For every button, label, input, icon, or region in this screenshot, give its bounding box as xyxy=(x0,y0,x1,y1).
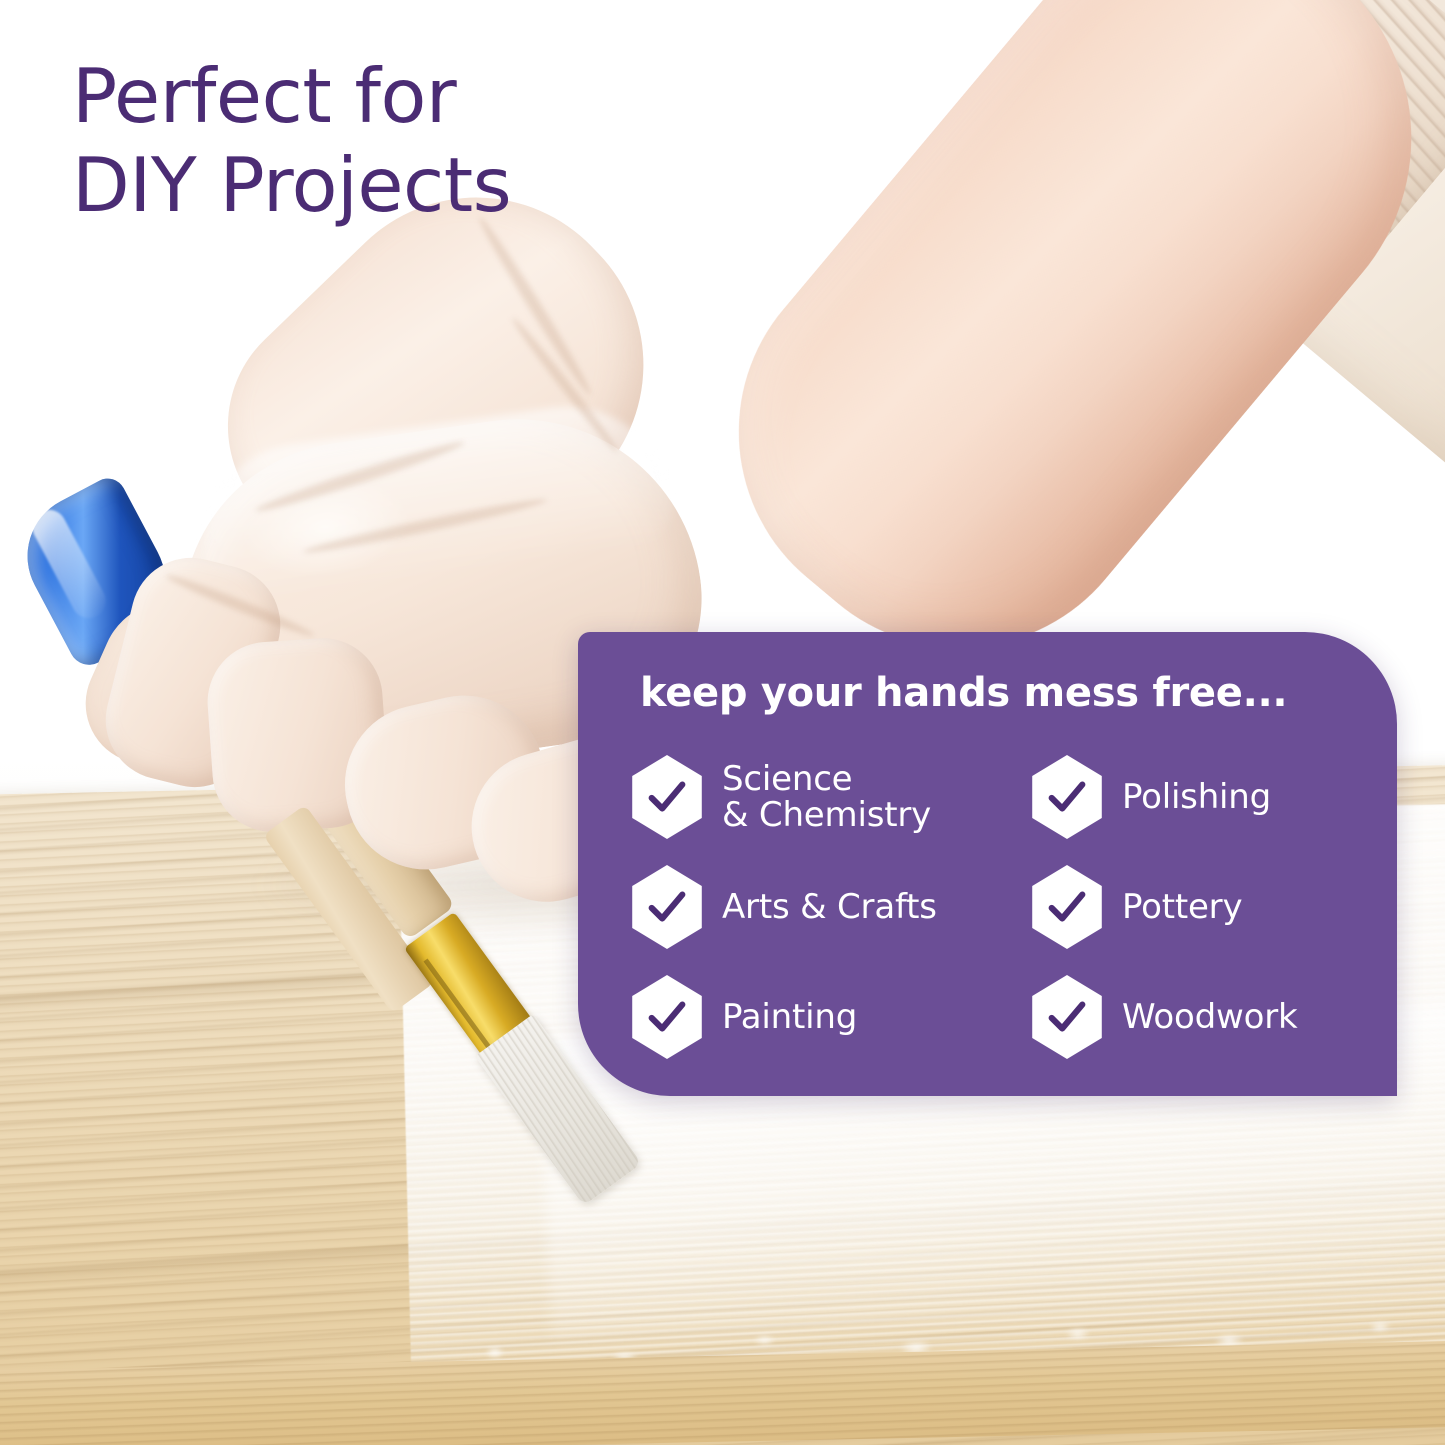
check-hexagon-icon xyxy=(1030,755,1104,839)
feature-item-science-chemistry: Science & Chemistry xyxy=(630,755,1030,839)
panel-title: keep your hands mess free... xyxy=(640,670,1397,716)
check-hexagon-icon xyxy=(1030,865,1104,949)
feature-label: Science & Chemistry xyxy=(722,761,931,833)
feature-item-woodwork: Woodwork xyxy=(1030,975,1430,1059)
check-hexagon-icon xyxy=(630,865,704,949)
features-panel: keep your hands mess free... Science & C… xyxy=(578,632,1397,1096)
check-hexagon-icon xyxy=(1030,975,1104,1059)
feature-item-arts-crafts: Arts & Crafts xyxy=(630,865,1030,949)
feature-label: Woodwork xyxy=(1122,999,1298,1035)
feature-item-painting: Painting xyxy=(630,975,1030,1059)
feature-label: Pottery xyxy=(1122,889,1242,925)
feature-label: Painting xyxy=(722,999,857,1035)
feature-label: Polishing xyxy=(1122,779,1271,815)
feature-item-polishing: Polishing xyxy=(1030,755,1430,839)
feature-label: Arts & Crafts xyxy=(722,889,937,925)
feature-item-pottery: Pottery xyxy=(1030,865,1430,949)
headline: Perfect for DIY Projects xyxy=(72,52,511,229)
product-marketing-image: Perfect for DIY Projects keep your hands… xyxy=(0,0,1445,1445)
feature-list: Science & Chemistry Polishing Arts & Cra… xyxy=(630,742,1397,1072)
check-hexagon-icon xyxy=(630,975,704,1059)
check-hexagon-icon xyxy=(630,755,704,839)
